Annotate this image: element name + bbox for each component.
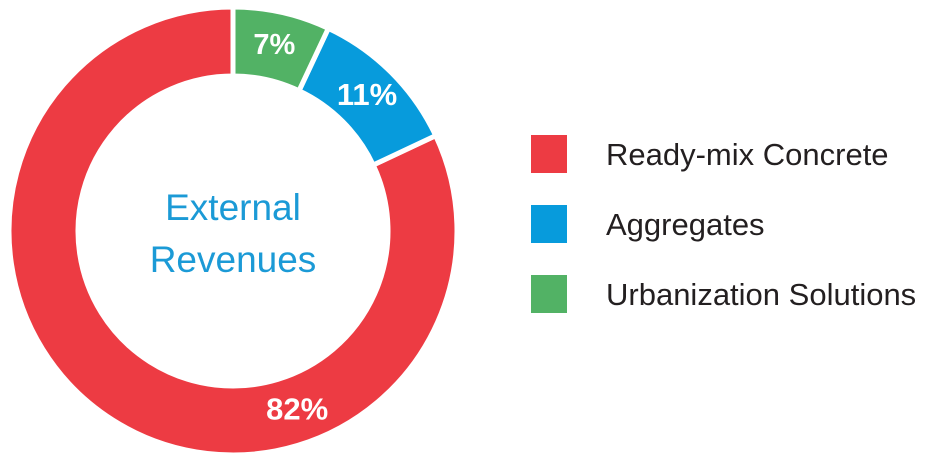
legend-item-ready-mix-concrete[interactable]: Ready-mix Concrete	[531, 134, 889, 174]
donut-center-label-line2: Revenues	[150, 239, 317, 280]
chart-legend: Ready-mix Concrete Aggregates Urbanizati…	[531, 134, 938, 329]
donut-chart-area: 82% 11% 7% External Revenues	[0, 0, 470, 465]
legend-label-urbanization-solutions: Urbanization Solutions	[606, 279, 916, 310]
donut-center-label-line1: External	[165, 187, 301, 228]
legend-label-ready-mix-concrete: Ready-mix Concrete	[606, 139, 889, 170]
legend-item-urbanization-solutions[interactable]: Urbanization Solutions	[531, 274, 916, 314]
legend-swatch-icon-ready-mix-concrete	[531, 135, 567, 173]
slice-value-label-urbanization-solutions: 7%	[253, 29, 295, 61]
slice-value-label-ready-mix-concrete: 82%	[266, 392, 328, 427]
legend-item-aggregates[interactable]: Aggregates	[531, 204, 765, 244]
donut-slice-group	[9, 7, 457, 455]
legend-label-aggregates: Aggregates	[606, 209, 765, 240]
slice-value-label-aggregates: 11%	[337, 77, 397, 112]
donut-chart-figure: 82% 11% 7% External Revenues Ready-mix C…	[0, 0, 938, 465]
donut-chart-svg: 82% 11% 7% External Revenues	[0, 0, 470, 465]
legend-swatch-icon-urbanization-solutions	[531, 275, 567, 313]
legend-swatch-icon-aggregates	[531, 205, 567, 243]
